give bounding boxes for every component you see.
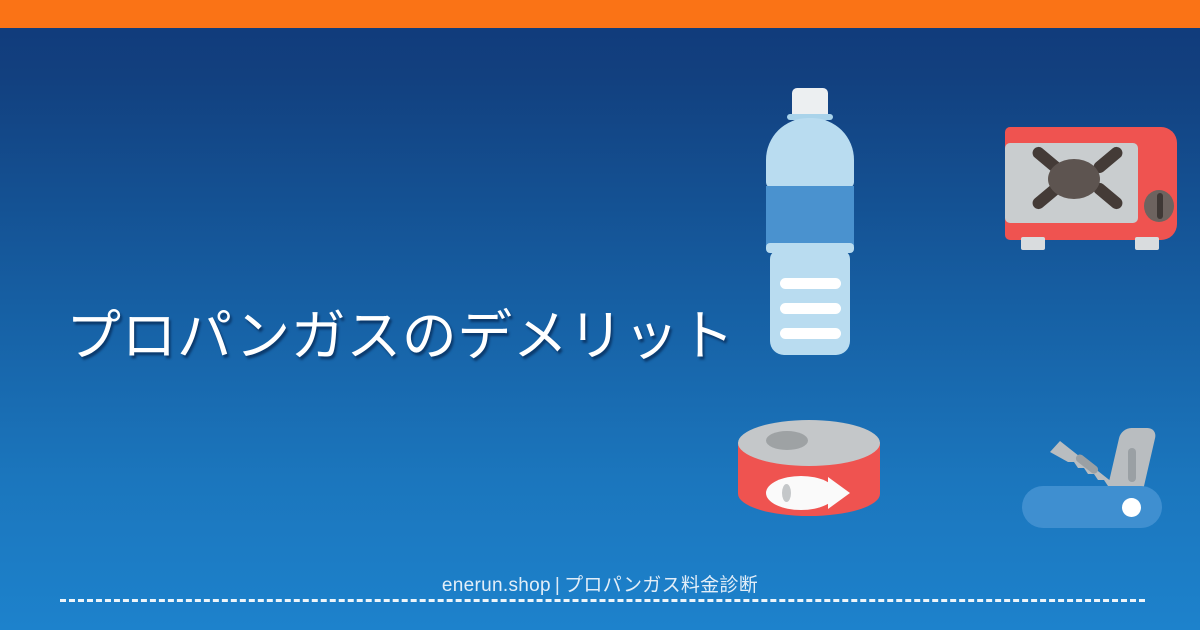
safe-icon [1005, 127, 1185, 252]
safe-dial-spoke-icon [1030, 144, 1064, 175]
page-title: プロパンガスのデメリット [66, 305, 735, 368]
bottle-stripe-icon [780, 303, 841, 314]
safe-handle-knob-icon [1144, 190, 1174, 222]
safe-dial-spoke-icon [1091, 180, 1125, 211]
bottle-stripe-icon [780, 328, 841, 339]
fish-tail-icon [828, 477, 850, 509]
safe-dial-icon [1048, 159, 1100, 199]
bottle-shoulder-icon [766, 118, 854, 188]
top-accent-bar [0, 0, 1200, 28]
safe-door-icon [1005, 143, 1138, 223]
knife-rivet-icon [1122, 498, 1141, 517]
footer-divider [60, 599, 1145, 602]
safe-dial-spoke-icon [1030, 180, 1064, 211]
knife-handle-icon [1022, 486, 1162, 528]
footer-separator: | [551, 575, 564, 596]
knife-main-blade-icon [1107, 428, 1158, 492]
slide-canvas: プロパンガスのデメリット [0, 0, 1200, 630]
knife-saw-blade-icon [1022, 424, 1172, 528]
bottle-body-icon [770, 250, 850, 355]
can-lid-icon [738, 420, 880, 466]
bottle-cap-icon [792, 88, 828, 116]
footer-caption: enerun.shop|プロパンガス料金診断 [0, 570, 1200, 597]
safe-dial-spoke-icon [1091, 144, 1125, 175]
fish-gill-icon [782, 484, 791, 502]
bottle-collar-icon [787, 114, 833, 120]
bottle-waist-icon [766, 243, 854, 253]
footer-site-name: enerun.shop [442, 575, 551, 596]
safe-handle-slot-icon [1157, 193, 1163, 219]
safe-foot-icon [1135, 237, 1159, 250]
can-body-icon [738, 442, 880, 516]
safe-foot-icon [1021, 237, 1045, 250]
pocket-knife-icon [1022, 424, 1172, 528]
footer-tagline: プロパンガス料金診断 [564, 575, 758, 596]
canned-fish-icon [738, 420, 880, 528]
can-pull-tab-icon [766, 431, 808, 450]
bottle-label-band-icon [766, 186, 854, 246]
bottle-stripe-icon [780, 278, 841, 289]
safe-shell-icon [1005, 127, 1177, 240]
water-bottle-icon [760, 88, 860, 293]
knife-blade-groove-icon [1128, 448, 1136, 482]
fish-body-icon [766, 476, 836, 510]
